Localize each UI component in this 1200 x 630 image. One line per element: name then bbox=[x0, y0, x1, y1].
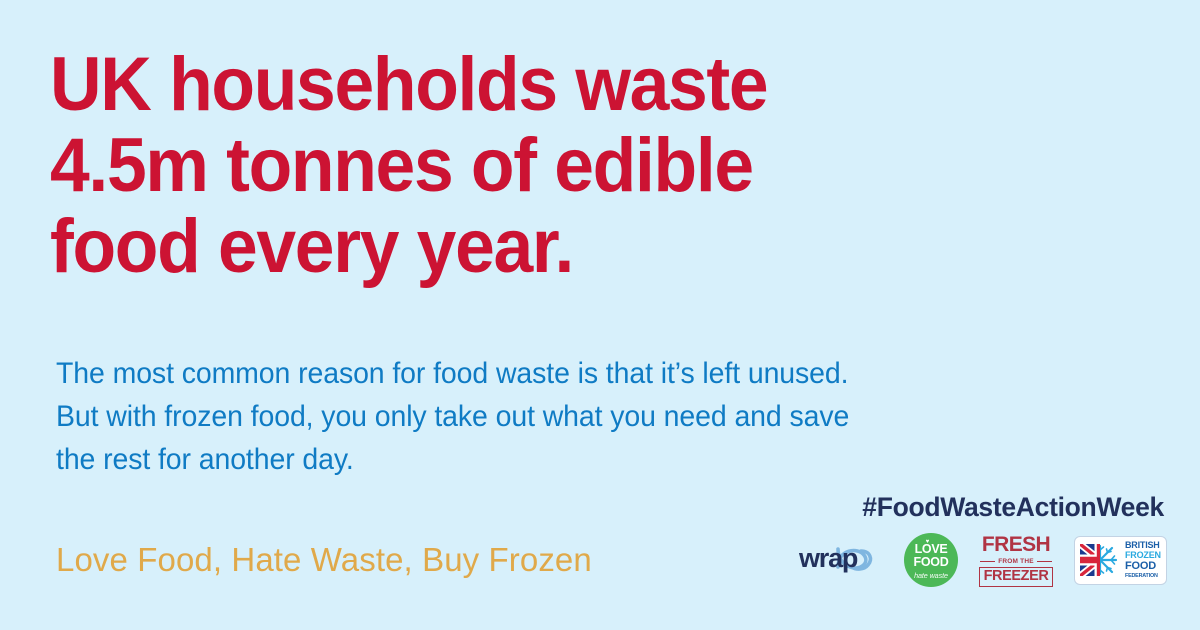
bfff-line-4: FEDERATION bbox=[1125, 574, 1161, 579]
fresh-line-3: FREEZER bbox=[979, 567, 1054, 587]
campaign-hashtag: #FoodWasteActionWeek bbox=[862, 492, 1164, 522]
love-food-hate-waste-logo: ♥ LOVE FOOD hate waste bbox=[904, 533, 958, 587]
lfhw-line-2: FOOD bbox=[914, 556, 949, 569]
poster-canvas: UK households waste 4.5m tonnes of edibl… bbox=[0, 0, 1200, 630]
fresh-from-the-freezer-logo: FRESH FROM THE FREEZER bbox=[980, 533, 1052, 587]
fresh-line-1: FRESH bbox=[982, 534, 1050, 555]
bfff-line-3: FOOD bbox=[1125, 561, 1161, 572]
union-jack-snowflake-icon bbox=[1080, 542, 1120, 578]
body-line-1: The most common reason for food waste is… bbox=[56, 352, 1127, 395]
body-line-2: But with frozen food, you only take out … bbox=[56, 395, 1127, 438]
headline-line-3: food every year. bbox=[50, 206, 952, 287]
headline-line-1: UK households waste bbox=[50, 44, 952, 125]
lfhw-line-3: hate waste bbox=[914, 571, 948, 580]
british-frozen-food-federation-logo: BRITISH FROZEN FOOD FEDERATION bbox=[1074, 536, 1167, 585]
wrap-logo: wrap bbox=[798, 537, 882, 583]
heart-icon: ♥ bbox=[926, 540, 931, 544]
partner-logo-row: wrap ♥ LOVE FOOD hate waste FRESH FROM T… bbox=[798, 531, 1167, 589]
svg-text:wrap: wrap bbox=[798, 543, 858, 573]
campaign-tagline: Love Food, Hate Waste, Buy Frozen bbox=[56, 541, 592, 579]
rule-left bbox=[980, 561, 995, 562]
body-line-3: the rest for another day. bbox=[56, 438, 1127, 481]
fresh-line-2-row: FROM THE bbox=[980, 558, 1052, 565]
headline-line-2: 4.5m tonnes of edible bbox=[50, 125, 952, 206]
bfff-wordmark: BRITISH FROZEN FOOD FEDERATION bbox=[1125, 541, 1161, 579]
fresh-line-2: FROM THE bbox=[998, 558, 1034, 565]
bfff-line-1: BRITISH bbox=[1125, 541, 1161, 550]
body-copy: The most common reason for food waste is… bbox=[56, 352, 1127, 481]
page-title: UK households waste 4.5m tonnes of edibl… bbox=[50, 44, 952, 287]
bfff-line-2: FROZEN bbox=[1125, 551, 1161, 560]
lfhw-line-1: ♥ LOVE bbox=[915, 543, 948, 556]
rule-right bbox=[1037, 561, 1052, 562]
